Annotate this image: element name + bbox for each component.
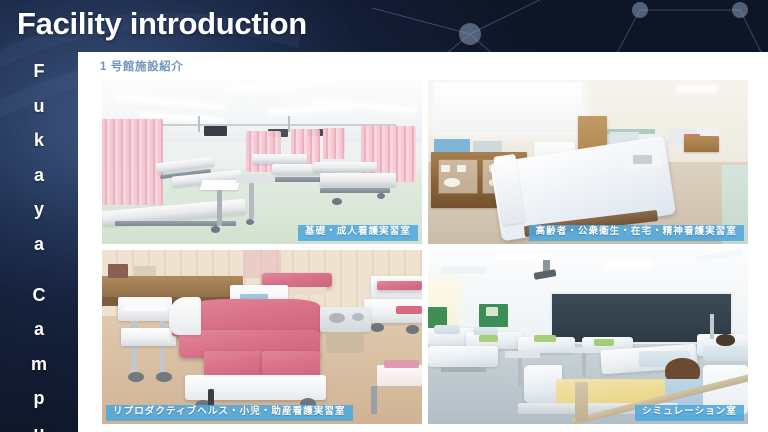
photo-caption: リプロダクティブヘルス・小児・助産看護実習室 — [106, 405, 353, 421]
sidebar-letter: a — [34, 235, 44, 253]
sidebar-letter: m — [31, 355, 47, 373]
photo-reproductive-health-pediatric-midwifery-nursing-lab: リプロダクティブヘルス・小児・助産看護実習室 — [102, 250, 422, 424]
photo-caption: 高齢者・公衆衛生・在宅・精神看護実習室 — [529, 225, 744, 241]
photo-grid: 基礎・成人看護実習室 — [102, 80, 748, 424]
sidebar-letter: F — [34, 62, 45, 80]
sidebar-vertical-label: F u k a y a C a m p u s — [0, 52, 78, 432]
sidebar-letter: y — [34, 200, 44, 218]
photo-elderly-public-health-home-psychiatric-nursing-lab: 高齢者・公衆衛生・在宅・精神看護実習室 — [428, 80, 748, 244]
content-panel: 1 号館施設紹介 — [78, 52, 768, 432]
photo-simulation-room: シミュレーション室 — [428, 250, 748, 424]
photo-scene — [428, 250, 748, 424]
photo-caption: 基礎・成人看護実習室 — [298, 225, 418, 241]
photo-scene — [428, 80, 748, 244]
sidebar-letter: C — [33, 286, 46, 304]
slide-title: Facility introduction — [17, 6, 307, 42]
sidebar-letter: a — [34, 320, 44, 338]
sidebar-letter: p — [34, 389, 45, 407]
sidebar-letter: a — [34, 166, 44, 184]
photo-scene — [102, 250, 422, 424]
photo-scene — [102, 80, 422, 244]
sidebar-letter: u — [34, 97, 45, 115]
sidebar-letter: k — [34, 131, 44, 149]
slide-root: Facility introduction F u k a y a C a m … — [0, 0, 768, 432]
photo-caption: シミュレーション室 — [635, 405, 744, 421]
panel-heading: 1 号館施設紹介 — [100, 58, 183, 74]
sidebar-letter: u — [34, 424, 45, 432]
photo-basic-adult-nursing-lab: 基礎・成人看護実習室 — [102, 80, 422, 244]
